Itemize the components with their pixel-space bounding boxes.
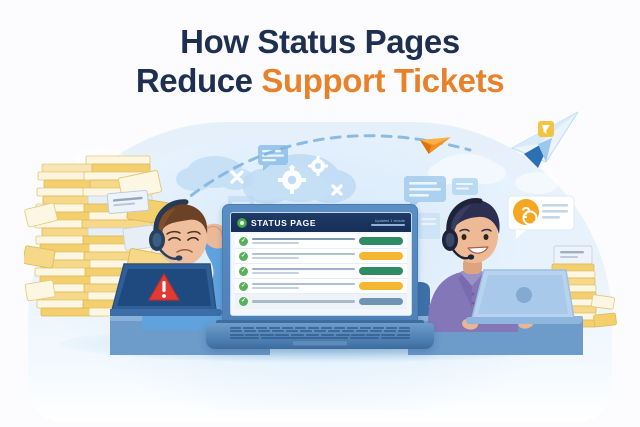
- check-circle-icon: ✓: [239, 252, 248, 261]
- laptop-trackpad: [292, 340, 348, 346]
- operational-dot-icon: [237, 218, 247, 228]
- title-line-1: How Status Pages: [0, 22, 640, 61]
- status-pill: [359, 298, 403, 306]
- paper-plane-icon: [512, 112, 578, 168]
- laptop-keyboard: [230, 327, 410, 338]
- laptop-base: [206, 323, 434, 349]
- status-page-header: STATUS PAGE Updated 1 minute: [231, 213, 411, 232]
- page-title: How Status Pages Reduce Support Tickets: [0, 22, 640, 100]
- help-chat-bubble: ?: [504, 194, 578, 242]
- status-pill: [359, 252, 403, 260]
- status-page-title: STATUS PAGE: [251, 218, 316, 228]
- title-line-2-part-1: Reduce: [136, 62, 262, 99]
- badge-icon: [538, 121, 554, 137]
- status-row[interactable]: ✓: [235, 264, 407, 279]
- title-line-2-part-2: Support Tickets: [261, 62, 504, 99]
- check-circle-icon: ✓: [239, 237, 248, 246]
- status-row[interactable]: ✓: [235, 234, 407, 249]
- status-pill: [359, 282, 403, 290]
- status-page-laptop: STATUS PAGE Updated 1 minute ✓ ✓: [206, 204, 434, 354]
- paper-plane-icon: [420, 131, 453, 155]
- status-row[interactable]: ✓: [235, 249, 407, 264]
- status-row[interactable]: ✓: [235, 294, 407, 309]
- status-pill: [359, 237, 403, 245]
- check-circle-icon: ✓: [239, 267, 248, 276]
- right-laptop: [466, 270, 582, 324]
- check-circle-icon: ✓: [239, 297, 248, 306]
- laptop-lid: STATUS PAGE Updated 1 minute ✓ ✓: [222, 204, 418, 322]
- status-page-meta: Updated 1 minute: [371, 219, 405, 226]
- status-page-rows: ✓ ✓ ✓ ✓: [231, 232, 411, 315]
- laptop-screen: STATUS PAGE Updated 1 minute ✓ ✓: [230, 212, 412, 316]
- status-row[interactable]: ✓: [235, 279, 407, 294]
- title-line-2: Reduce Support Tickets: [0, 61, 640, 100]
- infographic-canvas: ? STATUS PAGE Updated 1 minute: [0, 0, 640, 427]
- status-pill: [359, 267, 403, 275]
- status-page-meta-text: Updated 1 minute: [371, 219, 405, 223]
- check-circle-icon: ✓: [239, 282, 248, 291]
